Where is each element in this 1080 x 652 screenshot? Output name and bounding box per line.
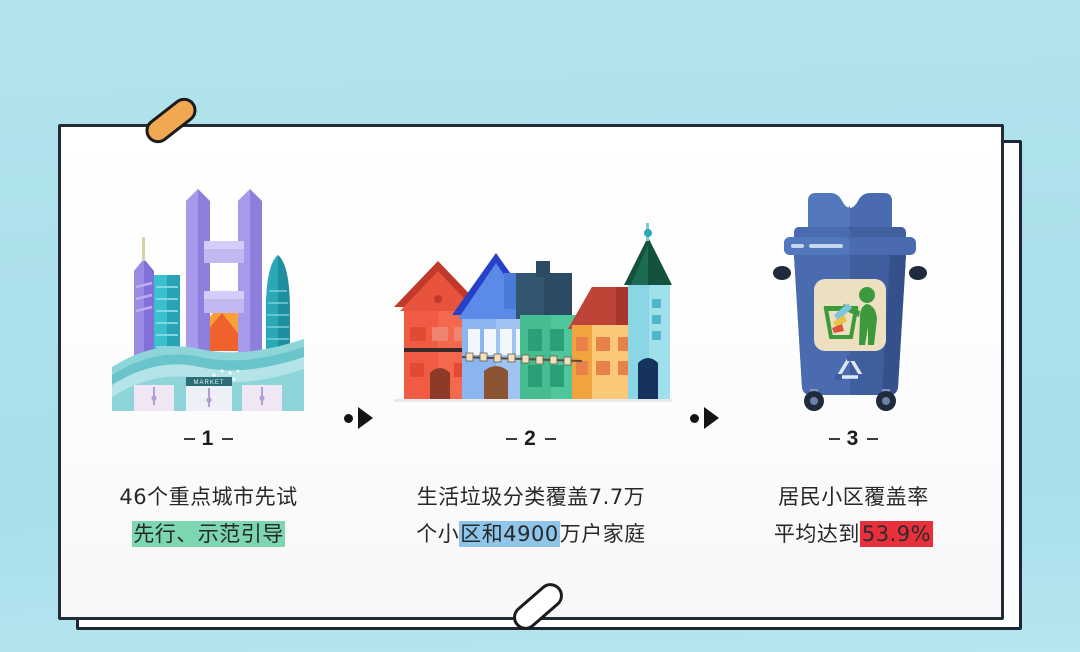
caption-line-1: 居民小区覆盖率 — [774, 479, 933, 516]
dash-left-icon — [829, 438, 840, 440]
caption-post: 万户家庭 — [560, 522, 646, 546]
panel-2: 2 生活垃圾分类覆盖7.7万 个小区和4900万户家庭 — [386, 145, 676, 583]
panel-number-3: 3 — [829, 427, 879, 451]
separator-arrow-1 — [330, 407, 386, 429]
svg-text:MARKET: MARKET — [193, 380, 224, 386]
row-houses-illustration — [386, 171, 676, 411]
panel-number-2: 2 — [506, 427, 556, 451]
panel-number-text: 3 — [847, 427, 861, 451]
caption-pre: 个小 — [416, 522, 459, 546]
dash-right-icon — [545, 438, 556, 440]
caption-line-1: 46个重点城市先试 — [119, 479, 297, 516]
panel-caption-3: 居民小区覆盖率 平均达到53.9% — [774, 479, 933, 553]
panel-number-text: 2 — [524, 427, 538, 451]
dot-icon — [690, 414, 699, 423]
city-skyline-illustration: MARKET — [87, 171, 330, 411]
panels-row: MARKET 1 — [61, 127, 1001, 617]
panel-1: MARKET 1 — [87, 145, 330, 583]
content-card: MARKET 1 — [58, 124, 1004, 620]
caption-line-2: 个小区和4900万户家庭 — [416, 516, 645, 553]
dash-left-icon — [506, 438, 517, 440]
caption-highlight: 53.9% — [860, 521, 933, 547]
caption-highlight: 区和4900 — [459, 521, 559, 547]
dash-right-icon — [867, 438, 878, 440]
dash-left-icon — [184, 438, 195, 440]
panel-caption-1: 46个重点城市先试 先行、示范引导 — [119, 479, 297, 553]
caption-line-2: 先行、示范引导 — [119, 516, 297, 553]
dash-right-icon — [222, 438, 233, 440]
card-inner-surface: MARKET 1 — [61, 127, 1001, 617]
panel-number-text: 1 — [202, 427, 216, 451]
caption-pre: 平均达到 — [774, 522, 860, 546]
recycling-bin-illustration — [732, 171, 975, 411]
panel-number-1: 1 — [184, 427, 234, 451]
dot-icon — [344, 414, 353, 423]
caption-highlight: 先行、示范引导 — [132, 521, 285, 547]
caption-line-1: 生活垃圾分类覆盖7.7万 — [416, 479, 645, 516]
triangle-right-icon — [704, 407, 719, 429]
separator-arrow-2 — [676, 407, 732, 429]
triangle-right-icon — [358, 407, 373, 429]
panel-3: 3 居民小区覆盖率 平均达到53.9% — [732, 145, 975, 583]
caption-line-2: 平均达到53.9% — [774, 516, 933, 553]
panel-caption-2: 生活垃圾分类覆盖7.7万 个小区和4900万户家庭 — [416, 479, 645, 553]
